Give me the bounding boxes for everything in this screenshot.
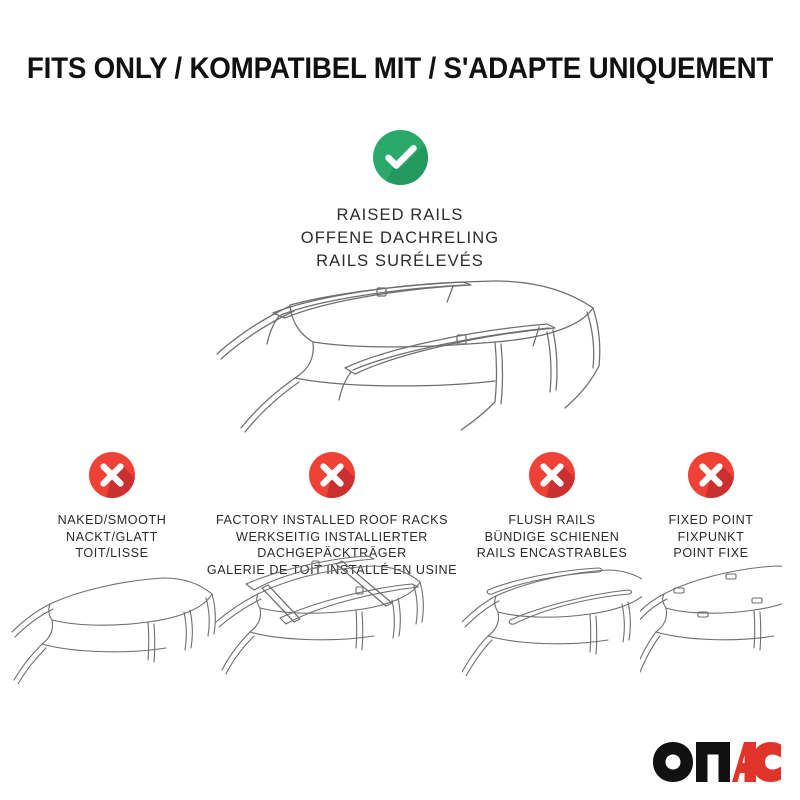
flush-rails-badge-wrap — [462, 452, 642, 506]
factory-roof-racks-label-en: FACTORY INSTALLED ROOF RACKS — [206, 512, 458, 529]
compatible-label-de: OFFENE DACHRELING — [0, 227, 800, 250]
incompatible-item-flush-rails: FLUSH RAILS BÜNDIGE SCHIENEN RAILS ENCAS… — [462, 452, 642, 562]
factory-roof-racks-badge-wrap — [206, 452, 458, 506]
naked-smooth-label-en: NAKED/SMOOTH — [8, 512, 216, 529]
car-roof-fixed-point-illustration — [640, 550, 782, 675]
logo-letter-m — [696, 742, 730, 782]
check-circle-icon — [373, 130, 428, 185]
naked-smooth-label-fr: TOIT/LISSE — [8, 545, 216, 562]
fixed-point-label-en: FIXED POINT — [640, 512, 782, 529]
incompatible-section: NAKED/SMOOTH NACKT/GLATT TOIT/LISSE — [0, 452, 800, 702]
x-circle-icon — [529, 452, 575, 498]
factory-roof-racks-label-de-1: WERKSEITIG INSTALLIERTER — [206, 529, 458, 546]
naked-smooth-badge-wrap — [8, 452, 216, 506]
flush-rails-label-de: BÜNDIGE SCHIENEN — [462, 529, 642, 546]
logo-letter-c — [752, 742, 781, 782]
x-circle-icon — [309, 452, 355, 498]
compatible-section: RAISED RAILS OFFENE DACHRELING RAILS SUR… — [0, 130, 800, 273]
car-roof-raised-rails-illustration — [195, 278, 605, 443]
incompatible-item-factory-roof-racks: FACTORY INSTALLED ROOF RACKS WERKSEITIG … — [206, 452, 458, 578]
compatible-label-en: RAISED RAILS — [0, 204, 800, 227]
naked-smooth-labels: NAKED/SMOOTH NACKT/GLATT TOIT/LISSE — [8, 512, 216, 562]
omac-logo — [652, 740, 782, 784]
incompatible-item-naked-smooth: NAKED/SMOOTH NACKT/GLATT TOIT/LISSE — [8, 452, 216, 562]
compatible-badge-wrap — [0, 130, 800, 190]
compatible-labels: RAISED RAILS OFFENE DACHRELING RAILS SUR… — [0, 204, 800, 273]
car-roof-naked-smooth-illustration — [8, 564, 216, 684]
logo-letter-o — [653, 742, 693, 782]
flush-rails-label-en: FLUSH RAILS — [462, 512, 642, 529]
flush-rails-labels: FLUSH RAILS BÜNDIGE SCHIENEN RAILS ENCAS… — [462, 512, 642, 562]
x-circle-icon — [89, 452, 135, 498]
car-roof-flush-rails-illustration — [462, 556, 642, 676]
fixed-point-label-de: FIXPUNKT — [640, 529, 782, 546]
incompatible-item-fixed-point: FIXED POINT FIXPUNKT POINT FIXE — [640, 452, 782, 562]
fixed-point-badge-wrap — [640, 452, 782, 506]
compatible-label-fr: RAILS SURÉLEVÉS — [0, 250, 800, 273]
page-title: FITS ONLY / KOMPATIBEL MIT / S'ADAPTE UN… — [24, 52, 776, 86]
car-roof-factory-roof-racks-illustration — [206, 548, 458, 678]
x-circle-icon — [688, 452, 734, 498]
naked-smooth-label-de: NACKT/GLATT — [8, 529, 216, 546]
